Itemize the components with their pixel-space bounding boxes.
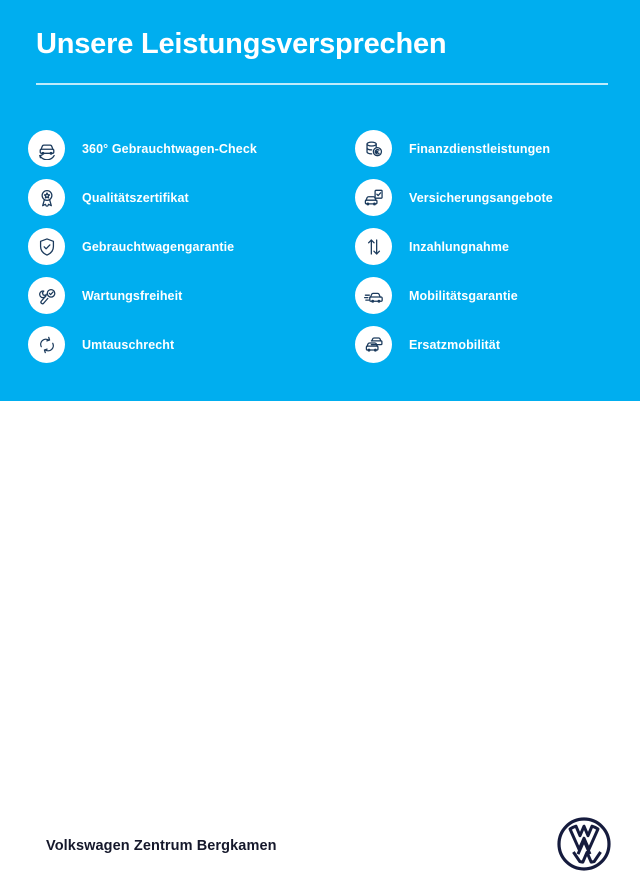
list-item[interactable]: Versicherungsangebote	[355, 173, 640, 222]
page-title: Unsere Leistungsversprechen	[36, 28, 446, 61]
car-document-check-icon	[355, 179, 392, 216]
list-item[interactable]: Umtauschrecht	[28, 320, 338, 369]
promise-poster: Unsere Leistungsversprechen 360° Gebrauc…	[0, 0, 640, 480]
list-item-label: Umtauschrecht	[82, 338, 174, 352]
blue-content-panel: Unsere Leistungsversprechen 360° Gebrauc…	[0, 0, 640, 401]
volkswagen-logo	[556, 816, 612, 872]
list-item-label: Finanzdienstleistungen	[409, 142, 550, 156]
coins-euro-icon	[355, 130, 392, 167]
footer-bar: Volkswagen Zentrum Bergkamen	[0, 401, 640, 480]
list-item-label: Versicherungsangebote	[409, 191, 553, 205]
list-item[interactable]: Inzahlungnahme	[355, 222, 640, 271]
list-item-label: Ersatzmobilität	[409, 338, 500, 352]
list-item[interactable]: Qualitätszertifikat	[28, 173, 338, 222]
exchange-arrows-icon	[28, 326, 65, 363]
list-item[interactable]: Mobilitätsgarantie	[355, 271, 640, 320]
shield-check-icon	[28, 228, 65, 265]
list-item[interactable]: 360° Gebrauchtwagen-Check	[28, 124, 338, 173]
list-item-label: Inzahlungnahme	[409, 240, 509, 254]
arrows-up-down-icon	[355, 228, 392, 265]
list-item-label: Wartungsfreiheit	[82, 289, 182, 303]
list-item[interactable]: Ersatzmobilität	[355, 320, 640, 369]
list-item-label: Gebrauchtwagengarantie	[82, 240, 234, 254]
two-cars-icon	[355, 326, 392, 363]
list-item-label: Mobilitätsgarantie	[409, 289, 518, 303]
list-item[interactable]: Finanzdienstleistungen	[355, 124, 640, 173]
list-item-label: 360° Gebrauchtwagen-Check	[82, 142, 257, 156]
promise-list-right: Finanzdienstleistungen Versicherungsange…	[355, 124, 640, 369]
dealer-name: Volkswagen Zentrum Bergkamen	[46, 838, 277, 854]
list-item[interactable]: Gebrauchtwagengarantie	[28, 222, 338, 271]
wrench-check-icon	[28, 277, 65, 314]
list-item[interactable]: Wartungsfreiheit	[28, 271, 338, 320]
car-speed-lines-icon	[355, 277, 392, 314]
list-item-label: Qualitätszertifikat	[82, 191, 189, 205]
car-360-check-icon	[28, 130, 65, 167]
promise-list-left: 360° Gebrauchtwagen-Check Qualitätszerti…	[28, 124, 338, 369]
quality-award-ribbon-icon	[28, 179, 65, 216]
title-divider	[36, 83, 608, 85]
